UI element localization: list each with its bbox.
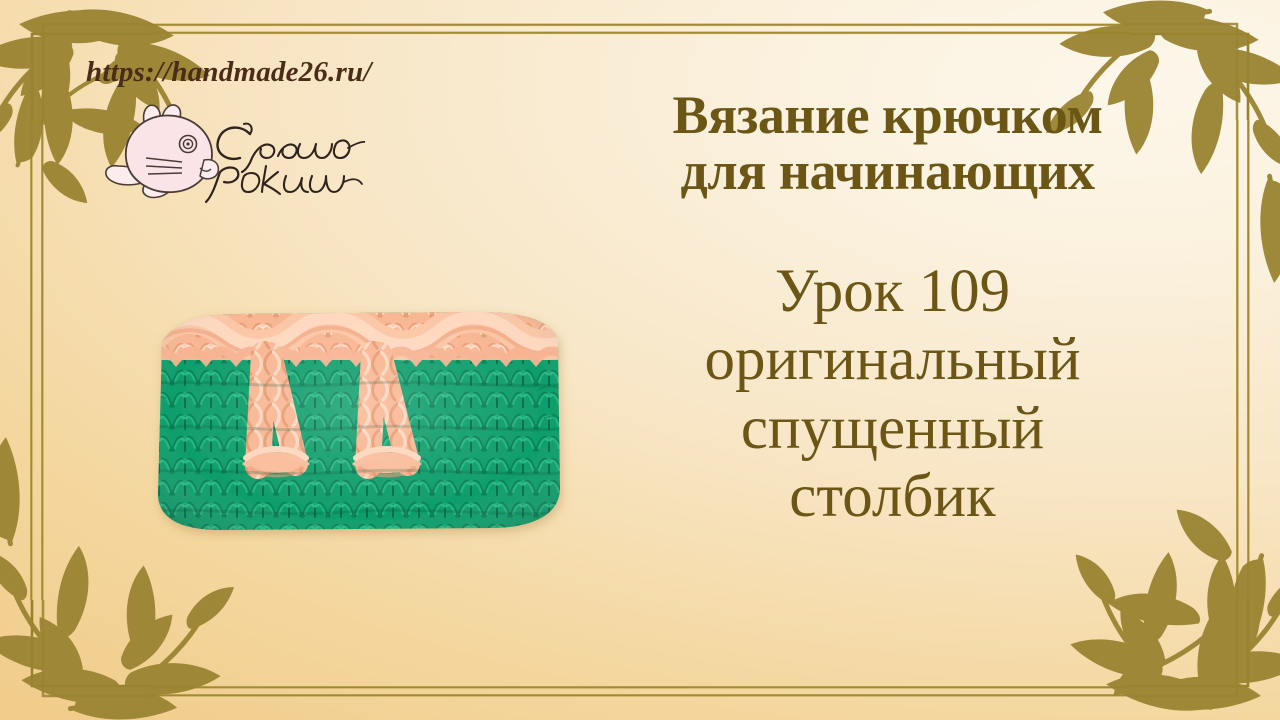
slide-canvas: https://handmade26.ru/: [0, 0, 1280, 720]
ornament-bottom-right: [1061, 505, 1280, 718]
headline-line-1: Вязание крючком: [575, 88, 1200, 144]
site-url[interactable]: https://handmade26.ru/: [86, 56, 372, 89]
subhead-line-3: спущенный: [575, 395, 1210, 463]
subhead-line-1: Урок 109: [575, 258, 1210, 326]
pink-bunny-logo: [100, 100, 365, 205]
headline-line-2: для начинающих: [575, 144, 1200, 200]
subhead-line-2: оригинальный: [575, 326, 1210, 394]
lesson-subtitle: Урок 109 оригинальный спущенный столбик: [575, 258, 1210, 531]
brand-logo[interactable]: [100, 100, 365, 205]
page-title: Вязание крючком для начинающих: [575, 88, 1200, 199]
subhead-line-4: столбик: [575, 463, 1210, 531]
crochet-swatch-photo: [146, 298, 574, 542]
